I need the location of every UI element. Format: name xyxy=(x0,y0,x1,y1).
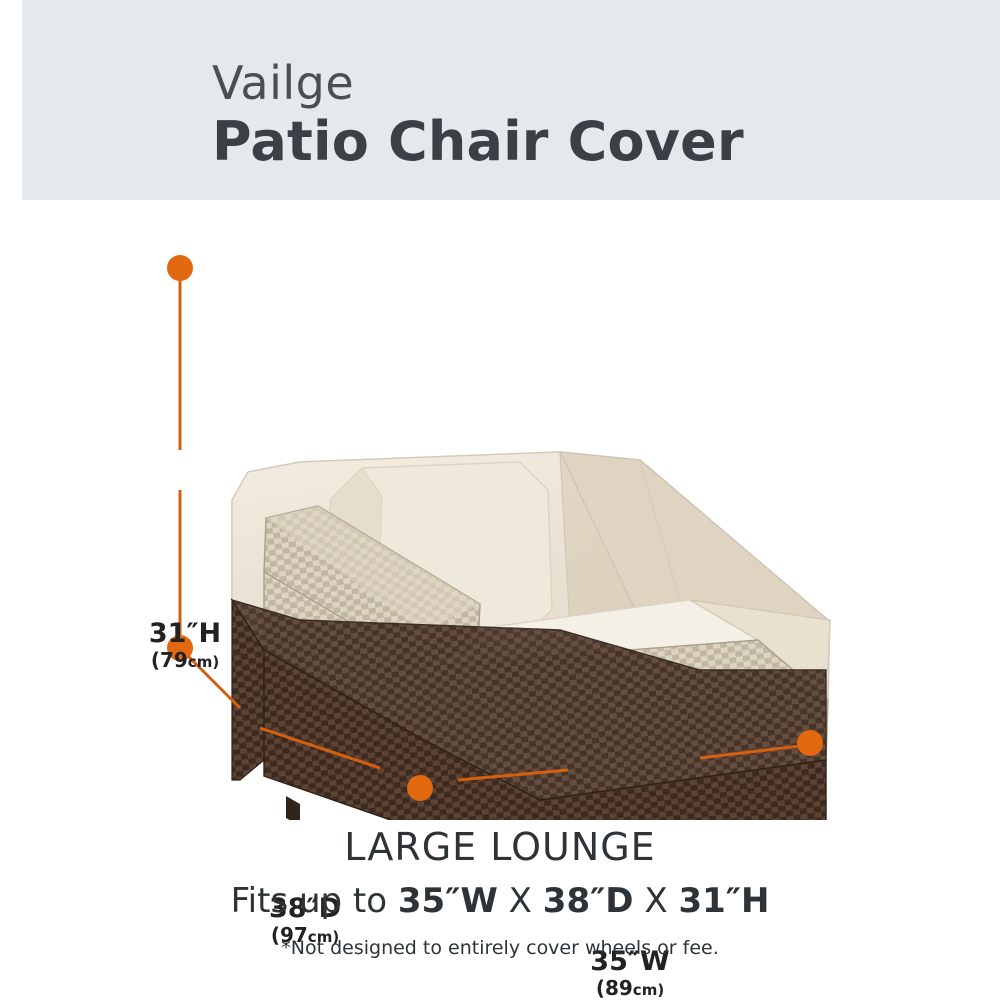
fits-height: 31″H xyxy=(678,881,769,921)
fits-depth: 38″D xyxy=(543,881,634,921)
dot-width-end xyxy=(797,730,823,756)
dimension-height-cm-unit: cm) xyxy=(188,653,219,671)
dimension-width-cm: (89cm) xyxy=(570,978,690,999)
footer-block: LARGE LOUNGE Fits up to 35″W X 38″D X 31… xyxy=(0,825,1000,959)
dimension-height-inches: 31″H xyxy=(130,620,240,648)
fits-width: 35″W xyxy=(398,881,498,921)
header-text-block: Vailge Patio Chair Cover xyxy=(212,60,744,171)
dimension-height-cm-value: (79 xyxy=(151,648,188,672)
dimension-height-cm: (79cm) xyxy=(130,650,240,671)
fits-prefix: Fits up to xyxy=(231,881,398,921)
footnote: *Not designed to entirely cover wheels o… xyxy=(0,937,1000,959)
fits-separator-2: X xyxy=(634,881,679,921)
fits-up-to-line: Fits up to 35″W X 38″D X 31″H xyxy=(0,881,1000,921)
dimension-height-label: 31″H (79cm) xyxy=(130,620,240,671)
fits-separator-1: X xyxy=(498,881,543,921)
header-band: Vailge Patio Chair Cover xyxy=(22,0,1000,200)
dimension-width-cm-unit: cm) xyxy=(633,981,664,999)
size-name: LARGE LOUNGE xyxy=(0,825,1000,869)
dimension-width-cm-value: (89 xyxy=(596,976,633,1000)
product-illustration-stage: 31″H (79cm) 38″D (97cm) 35″W (89cm) xyxy=(0,200,1000,820)
dot-depth-end xyxy=(407,775,433,801)
brand-name: Vailge xyxy=(212,60,744,106)
chair-cover-illustration xyxy=(0,200,1000,820)
page-title: Patio Chair Cover xyxy=(212,114,744,171)
dot-height-top xyxy=(167,255,193,281)
